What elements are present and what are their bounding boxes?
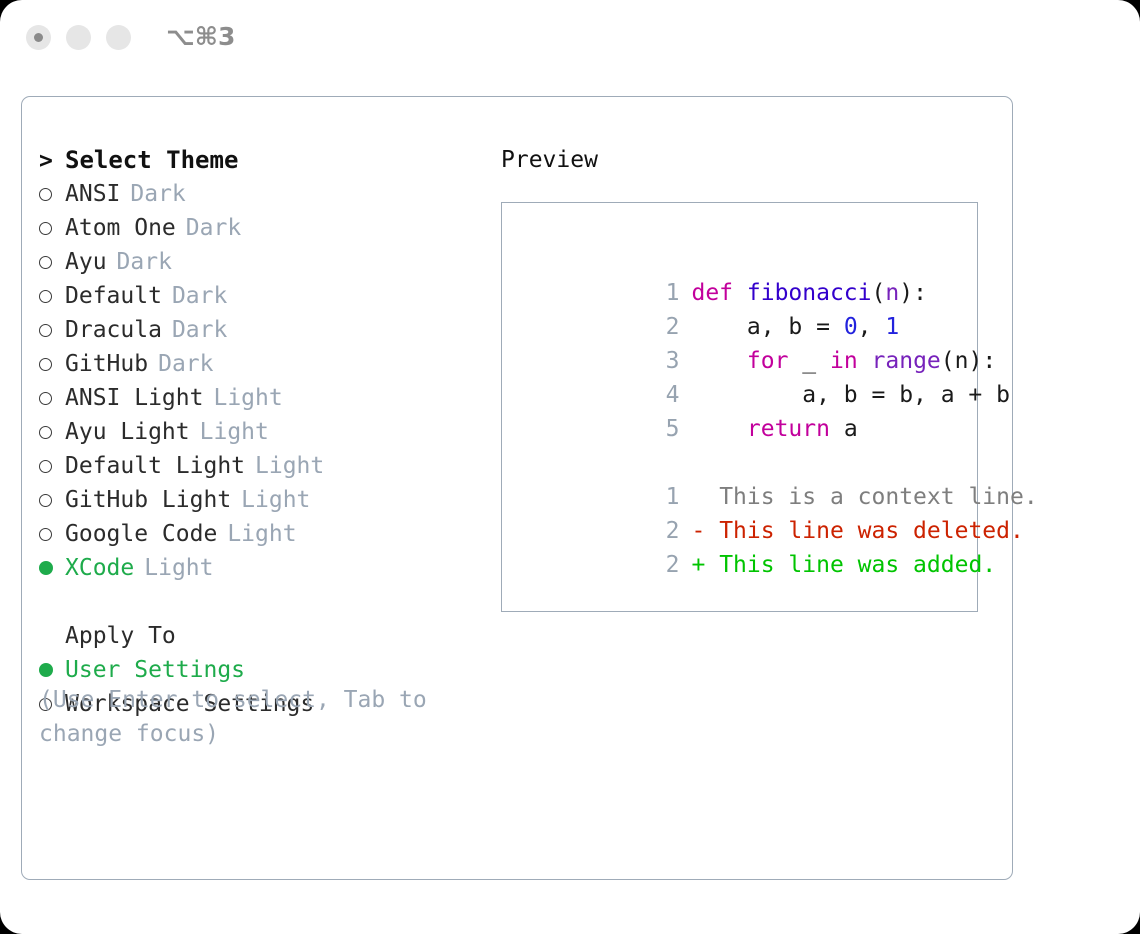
code-token: in (830, 348, 858, 374)
radio-selected-icon[interactable] (39, 551, 65, 585)
list-spacer (39, 585, 479, 619)
radio-unselected-icon[interactable] (39, 484, 65, 518)
theme-name: ANSI (65, 177, 120, 211)
close-button[interactable] (26, 25, 51, 50)
radio-unselected-icon[interactable] (39, 212, 65, 246)
code-token: , (858, 314, 886, 340)
radio-unselected-icon[interactable] (39, 246, 65, 280)
theme-option-ayu[interactable]: Ayu Dark (39, 245, 479, 279)
code-token (691, 416, 746, 442)
theme-variant: Light (227, 517, 296, 551)
theme-option-ansi[interactable]: ANSI Dark (39, 177, 479, 211)
keyboard-hint-line1: (Use Enter to select, Tab to (39, 683, 459, 717)
theme-variant: Light (213, 381, 282, 415)
theme-option-xcode[interactable]: XCode Light (39, 551, 479, 585)
radio-unselected-icon[interactable] (39, 382, 65, 416)
theme-name: Default Light (65, 449, 245, 483)
app-window: ⌥⌘3 > Select Theme ANSI Dark Atom One Da… (0, 0, 1140, 934)
line-number: 4 (653, 378, 679, 412)
maximize-button[interactable] (106, 25, 131, 50)
radio-unselected-icon[interactable] (39, 280, 65, 314)
theme-name: XCode (65, 551, 134, 585)
radio-unselected-icon[interactable] (39, 450, 65, 484)
radio-unselected-icon[interactable] (39, 314, 65, 348)
code-token: ): (899, 280, 927, 306)
line-number: 2 (653, 310, 679, 344)
line-number: 2 (653, 548, 679, 582)
theme-option-default[interactable]: Default Dark (39, 279, 479, 313)
theme-name: Ayu (65, 245, 107, 279)
line-number: 1 (653, 276, 679, 310)
diff-text: This is a context line. (705, 484, 1037, 510)
prompt-caret-icon: > (39, 144, 65, 178)
theme-variant: Light (241, 483, 310, 517)
diff-text: This line was added. (705, 552, 996, 578)
radio-unselected-icon[interactable] (39, 416, 65, 450)
code-token: fibonacci (747, 280, 872, 306)
code-token: for (747, 348, 789, 374)
minimize-button[interactable] (66, 25, 91, 50)
preview-title: Preview (501, 143, 991, 177)
code-line: 1def fibonacci(n): (515, 242, 969, 276)
code-token (858, 348, 872, 374)
select-theme-header: > Select Theme (39, 143, 479, 177)
theme-name: ANSI Light (65, 381, 203, 415)
code-token: return (747, 416, 830, 442)
diff-text: This line was deleted. (705, 518, 1024, 544)
radio-unselected-icon[interactable] (39, 178, 65, 212)
theme-variant: Dark (172, 313, 227, 347)
code-token: 0 (844, 314, 858, 340)
code-token: (n): (941, 348, 996, 374)
theme-option-ansi-light[interactable]: ANSI Light Light (39, 381, 479, 415)
theme-variant: Light (255, 449, 324, 483)
title-bar: ⌥⌘3 (0, 0, 1140, 78)
theme-name: Google Code (65, 517, 217, 551)
code-token: 1 (885, 314, 899, 340)
diff-sign: + (691, 552, 705, 578)
theme-option-atom-one[interactable]: Atom One Dark (39, 211, 479, 245)
theme-option-ayu-light[interactable]: Ayu Light Light (39, 415, 479, 449)
radio-unselected-icon[interactable] (39, 518, 65, 552)
theme-variant: Light (200, 415, 269, 449)
theme-variant: Dark (172, 279, 227, 313)
code-token: _ (788, 348, 830, 374)
window-controls (26, 25, 131, 50)
line-number: 2 (653, 514, 679, 548)
keyboard-hint: (Use Enter to select, Tab to change focu… (39, 683, 459, 751)
radio-selected-icon[interactable] (39, 653, 65, 687)
code-preview: 1def fibonacci(n): 2 a, b = 0, 1 3 for _… (515, 242, 969, 548)
line-number: 1 (653, 480, 679, 514)
code-token (691, 348, 746, 374)
diff-sign (691, 484, 705, 510)
code-token: a, b = (691, 314, 843, 340)
apply-to-option-user-settings[interactable]: User Settings (39, 653, 479, 687)
apply-to-option-label: User Settings (65, 653, 245, 687)
keyboard-shortcut-label: ⌥⌘3 (166, 22, 235, 51)
theme-option-google-code[interactable]: Google Code Light (39, 517, 479, 551)
theme-option-default-light[interactable]: Default Light Light (39, 449, 479, 483)
apply-to-label: Apply To (65, 619, 176, 653)
theme-variant: Dark (130, 177, 185, 211)
preview-section: Preview (501, 143, 991, 177)
theme-option-github-light[interactable]: GitHub Light Light (39, 483, 479, 517)
theme-variant: Dark (158, 347, 213, 381)
theme-variant: Dark (186, 211, 241, 245)
close-button-dot (34, 33, 43, 42)
apply-to-header: Apply To (39, 619, 479, 653)
theme-option-github[interactable]: GitHub Dark (39, 347, 479, 381)
code-token: range (872, 348, 941, 374)
theme-variant: Light (144, 551, 213, 585)
theme-name: Atom One (65, 211, 176, 245)
line-number: 3 (653, 344, 679, 378)
preview-box: 1def fibonacci(n): 2 a, b = 0, 1 3 for _… (501, 202, 978, 612)
radio-unselected-icon[interactable] (39, 348, 65, 382)
diff-sign: - (691, 518, 705, 544)
theme-name: Dracula (65, 313, 162, 347)
select-theme-header-label: Select Theme (65, 143, 238, 177)
theme-name: Default (65, 279, 162, 313)
code-token: ( (872, 280, 886, 306)
theme-name: Ayu Light (65, 415, 190, 449)
keyboard-hint-line2: change focus) (39, 717, 459, 751)
code-token: def (691, 280, 746, 306)
theme-option-dracula[interactable]: Dracula Dark (39, 313, 479, 347)
main-panel: > Select Theme ANSI Dark Atom One Dark A… (21, 96, 1013, 880)
theme-picker-list: > Select Theme ANSI Dark Atom One Dark A… (39, 143, 479, 721)
code-token: a (830, 416, 858, 442)
theme-name: GitHub Light (65, 483, 231, 517)
code-token: a, b = b, a + b (691, 382, 1010, 408)
code-token: n (885, 280, 899, 306)
theme-variant: Dark (117, 245, 172, 279)
theme-name: GitHub (65, 347, 148, 381)
line-number: 5 (653, 412, 679, 446)
